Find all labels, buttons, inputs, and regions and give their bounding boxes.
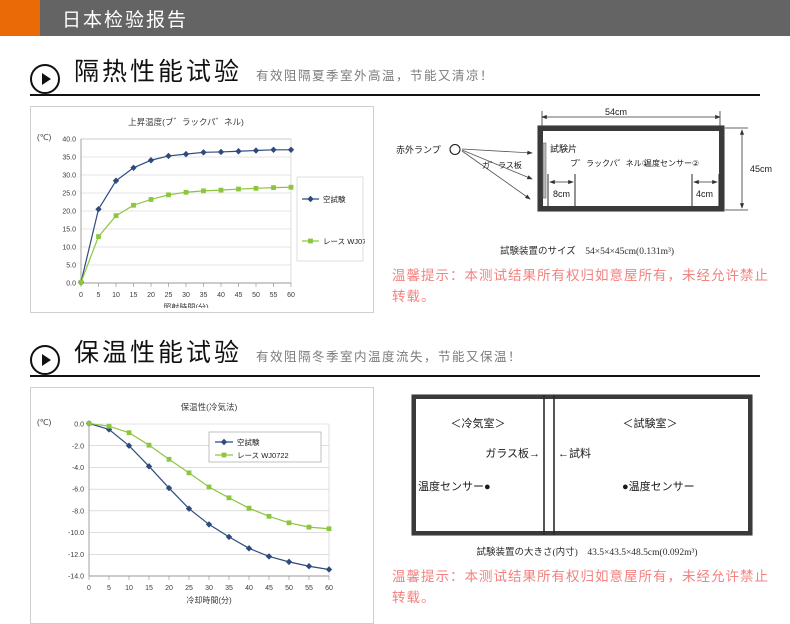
diagram-1-container: 赤外ランプ ガ゛ラス板 54cm — [392, 106, 782, 313]
data-point — [246, 545, 252, 551]
x-tick-label: 0 — [87, 585, 91, 592]
data-point — [184, 190, 189, 195]
legend-label: 空試験 — [323, 194, 346, 204]
thermal-retention-line-chart: 保温性(冷気法)(℃)0.0-2.0-4.0-6.0-8.0-10.0-12.0… — [35, 394, 365, 619]
play-arrow-icon — [30, 64, 60, 94]
section-2-title: 保温性能试验 — [74, 333, 242, 369]
y-tick-label: -8.0 — [72, 508, 84, 515]
section-1-title: 隔热性能试验 — [74, 52, 242, 88]
diagram-2-container: ＜冷気室＞ ＜試験室＞ ガラス板→ ←試料 温度センサー● ●温度センサー 試験… — [392, 387, 782, 624]
section-thermal-retention: 保温性能试验 有效阻隔冬季室内温度流失，节能又保温！ 保温性(冷気法)(℃)0.… — [0, 333, 790, 624]
x-tick-label: 25 — [185, 585, 193, 592]
section-2-header: 保温性能试验 有效阻隔冬季室内温度流失，节能又保温！ — [30, 333, 760, 370]
dim-8cm-label: 8cm — [553, 189, 570, 199]
data-point — [87, 421, 92, 426]
x-tick-label: 45 — [265, 585, 273, 592]
section-1-header: 隔热性能试验 有效阻隔夏季室外高温，节能又清凉！ — [30, 52, 760, 89]
play-arrow-icon — [30, 345, 60, 375]
y-tick-label: 25.0 — [62, 191, 76, 198]
data-point — [187, 470, 192, 475]
x-tick-label: 55 — [270, 292, 278, 299]
data-point — [183, 151, 189, 157]
data-point — [236, 187, 241, 192]
data-point — [227, 495, 232, 500]
page-banner: 日本检验报告 — [0, 0, 790, 36]
x-axis-label: 冷却時間(分) — [186, 595, 232, 605]
x-axis-label: 照射時間(分) — [163, 302, 209, 308]
y-tick-label: -14.0 — [68, 574, 84, 581]
data-point — [147, 443, 152, 448]
y-tick-label: -12.0 — [68, 552, 84, 559]
chart-1-container: 上昇温度(ブ゛ラックパ゛ネル)(℃)0.05.010.015.020.025.0… — [30, 106, 374, 313]
test-room-label: ＜試験室＞ — [623, 416, 678, 430]
x-tick-label: 35 — [225, 585, 233, 592]
data-point — [148, 157, 154, 163]
chart-title: 保温性(冷気法) — [181, 402, 238, 412]
y-tick-label: 15.0 — [62, 227, 76, 234]
legend-label: レース WJ0722 — [323, 237, 365, 246]
y-axis-unit: (℃) — [37, 133, 52, 142]
heat-test-apparatus-diagram: 赤外ランプ ガ゛ラス板 54cm — [392, 106, 782, 241]
x-tick-label: 55 — [305, 585, 313, 592]
data-point — [288, 147, 294, 153]
x-tick-label: 35 — [200, 292, 208, 299]
x-tick-label: 60 — [287, 292, 295, 299]
data-point — [254, 186, 259, 191]
y-tick-label: 20.0 — [62, 209, 76, 216]
x-tick-label: 30 — [182, 292, 190, 299]
y-tick-label: -2.0 — [72, 443, 84, 450]
section-2-subtitle: 有效阻隔冬季室内温度流失，节能又保温！ — [256, 346, 522, 365]
temp-sensor-right-label: ●温度センサー — [622, 479, 695, 493]
data-point — [219, 188, 224, 193]
data-point — [96, 234, 101, 239]
series-line — [81, 150, 291, 282]
rising-temperature-line-chart: 上昇温度(ブ゛ラックパ゛ネル)(℃)0.05.010.015.020.025.0… — [35, 113, 365, 308]
data-point — [207, 485, 212, 490]
data-point — [326, 566, 332, 572]
banner-accent-block — [0, 0, 40, 36]
data-point — [226, 534, 232, 540]
cold-test-apparatus-diagram: ＜冷気室＞ ＜試験室＞ ガラス板→ ←試料 温度センサー● ●温度センサー — [392, 387, 782, 542]
y-tick-label: 0.0 — [74, 422, 84, 429]
banner-bar: 日本检验报告 — [40, 0, 790, 36]
section-1-warning: 温馨提示：本测试结果所有权归如意屋所有，未经允许禁止转载。 — [392, 265, 782, 307]
diagram-2-caption: 試験装置の大きさ(内寸) 43.5×43.5×48.5cm(0.092m³) — [392, 544, 782, 558]
data-point — [267, 514, 272, 519]
dim-right-label: 45cm — [750, 164, 772, 174]
data-point — [107, 424, 112, 429]
x-tick-label: 40 — [217, 292, 225, 299]
temp-sensor-label: 温度センサー② — [644, 158, 699, 168]
data-point — [235, 148, 241, 154]
cold-room-label: ＜冷気室＞ — [451, 416, 506, 430]
y-tick-label: 30.0 — [62, 173, 76, 180]
x-tick-label: 50 — [285, 585, 293, 592]
dim-top-label: 54cm — [605, 107, 627, 117]
diagram-1-caption: 試験装置のサイズ 54×54×45cm(0.131m³) — [392, 243, 782, 257]
section-2-body: 保温性(冷気法)(℃)0.0-2.0-4.0-6.0-8.0-10.0-12.0… — [30, 387, 760, 624]
x-tick-label: 25 — [165, 292, 173, 299]
data-point — [247, 506, 252, 511]
sample-label: 試験片 — [550, 143, 577, 154]
data-point — [218, 149, 224, 155]
data-point — [114, 213, 119, 218]
page-title: 日本检验报告 — [40, 5, 188, 32]
data-point — [166, 192, 171, 197]
chart-2-container: 保温性(冷気法)(℃)0.0-2.0-4.0-6.0-8.0-10.0-12.0… — [30, 387, 374, 624]
temp-sensor-left-label: 温度センサー● — [418, 479, 491, 493]
sample-label: ←試料 — [558, 446, 591, 460]
black-panel-label: ブ゛ラックパ゛ネル① — [570, 158, 649, 168]
glass-plate-label: ガラス板→ — [485, 446, 540, 460]
data-point — [165, 153, 171, 159]
dim-4cm-label: 4cm — [696, 189, 713, 199]
x-tick-label: 5 — [97, 292, 101, 299]
y-tick-label: 0.0 — [66, 281, 76, 288]
y-axis-unit: (℃) — [37, 418, 52, 427]
data-point — [201, 188, 206, 193]
data-point — [95, 206, 101, 212]
y-tick-label: 5.0 — [66, 263, 76, 270]
lamp-circle-icon — [450, 145, 460, 155]
data-point — [149, 197, 154, 202]
y-tick-label: -10.0 — [68, 530, 84, 537]
x-tick-label: 0 — [79, 292, 83, 299]
x-tick-label: 10 — [125, 585, 133, 592]
data-point — [289, 185, 294, 190]
data-point — [270, 147, 276, 153]
data-point — [253, 147, 259, 153]
x-tick-label: 40 — [245, 585, 253, 592]
data-point — [200, 149, 206, 155]
chart-1-card: 上昇温度(ブ゛ラックパ゛ネル)(℃)0.05.010.015.020.025.0… — [30, 106, 374, 313]
series-line — [81, 187, 291, 282]
data-point — [271, 185, 276, 190]
y-tick-label: -6.0 — [72, 487, 84, 494]
lamp-label: 赤外ランプ — [396, 144, 441, 155]
data-point — [306, 563, 312, 569]
x-tick-label: 45 — [235, 292, 243, 299]
y-tick-label: -4.0 — [72, 465, 84, 472]
data-point — [327, 526, 332, 531]
data-point — [131, 203, 136, 208]
data-point — [127, 430, 132, 435]
x-tick-label: 10 — [112, 292, 120, 299]
y-tick-label: 10.0 — [62, 245, 76, 252]
data-point — [79, 280, 84, 285]
section-2-warning: 温馨提示：本测试结果所有权归如意屋所有，未经允许禁止转载。 — [392, 566, 782, 608]
x-tick-label: 50 — [252, 292, 260, 299]
section-1-divider — [30, 94, 760, 96]
data-point — [286, 559, 292, 565]
x-tick-label: 60 — [325, 585, 333, 592]
section-1-subtitle: 有效阻隔夏季室外高温，节能又清凉！ — [256, 65, 494, 84]
legend-label: レース WJ0722 — [237, 451, 289, 460]
data-point — [167, 457, 172, 462]
y-tick-label: 35.0 — [62, 155, 76, 162]
chart-2-card: 保温性(冷気法)(℃)0.0-2.0-4.0-6.0-8.0-10.0-12.0… — [30, 387, 374, 624]
x-tick-label: 30 — [205, 585, 213, 592]
section-1-body: 上昇温度(ブ゛ラックパ゛ネル)(℃)0.05.010.015.020.025.0… — [30, 106, 760, 313]
data-point — [307, 525, 312, 530]
data-point — [287, 520, 292, 525]
glass-plate-label: ガ゛ラス板 — [482, 160, 522, 170]
section-heat-insulation: 隔热性能试验 有效阻隔夏季室外高温，节能又清凉！ 上昇温度(ブ゛ラックパ゛ネル)… — [0, 52, 790, 313]
x-tick-label: 15 — [145, 585, 153, 592]
x-tick-label: 15 — [130, 292, 138, 299]
y-tick-label: 40.0 — [62, 137, 76, 144]
chart-title: 上昇温度(ブ゛ラックパ゛ネル) — [128, 117, 244, 127]
x-tick-label: 20 — [147, 292, 155, 299]
legend-label: 空試験 — [237, 437, 260, 447]
section-2-divider — [30, 375, 760, 377]
x-tick-label: 5 — [107, 585, 111, 592]
x-tick-label: 20 — [165, 585, 173, 592]
